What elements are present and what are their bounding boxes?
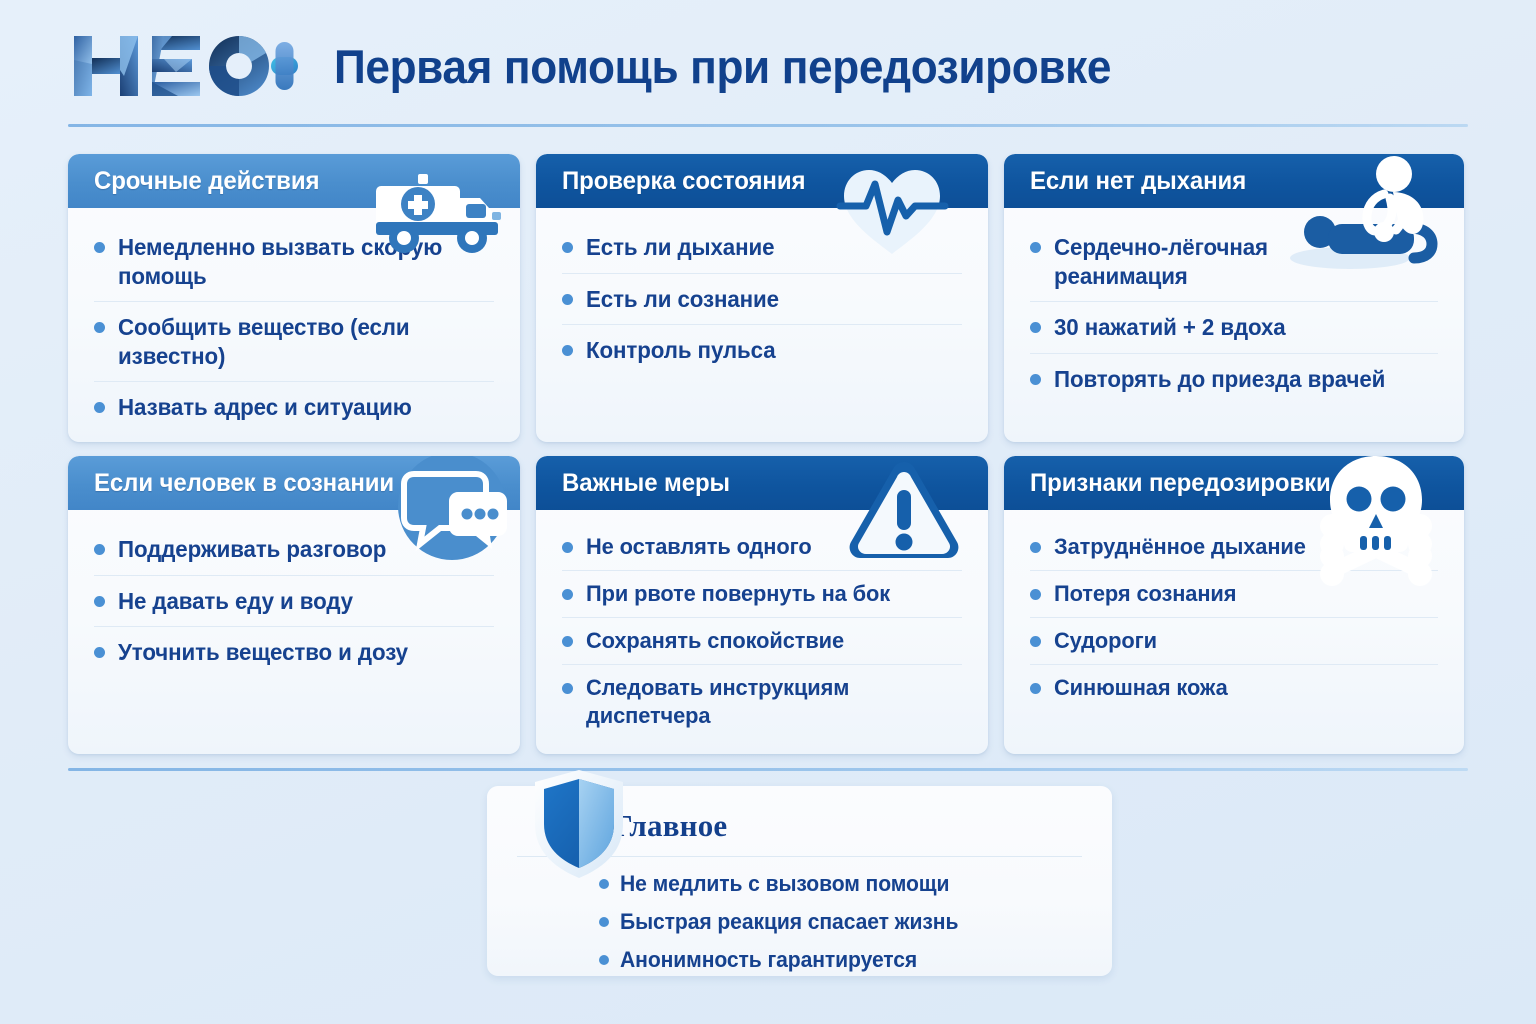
bullet-dot bbox=[1030, 322, 1041, 333]
list-item[interactable]: Есть ли сознание bbox=[562, 274, 962, 326]
bullet-dot bbox=[562, 345, 573, 356]
list-item[interactable]: Сохранять спокойствие bbox=[562, 618, 962, 665]
card-person-conscious[interactable]: Если человек в сознании Поддерживать раз… bbox=[68, 456, 520, 754]
bullet-dot bbox=[562, 542, 573, 553]
page-header: Первая помощь при передозировке bbox=[68, 26, 1468, 106]
list-item-label: Быстрая реакция спасает жизнь bbox=[620, 909, 958, 935]
card-title: Важные меры bbox=[562, 469, 730, 498]
list-item-label: Анонимность гарантируется bbox=[620, 947, 917, 973]
footer-divider bbox=[68, 768, 1468, 771]
header-divider bbox=[68, 124, 1468, 127]
list-item-label: Следовать инструкциям диспетчера bbox=[586, 674, 951, 730]
bullet-dot bbox=[562, 683, 573, 694]
list-item-label: Назвать адрес и ситуацию bbox=[118, 393, 412, 422]
list-item[interactable]: Сердечно-лёгочная реанимация bbox=[1030, 222, 1438, 302]
bullet-dot bbox=[1030, 636, 1041, 647]
bullet-dot bbox=[1030, 374, 1041, 385]
card-title: Проверка состояния bbox=[562, 167, 805, 196]
card-no-breathing[interactable]: Если нет дыхания Сердечно-лё bbox=[1004, 154, 1464, 442]
bullet-dot bbox=[1030, 542, 1041, 553]
list-item-label: Есть ли дыхание bbox=[586, 233, 774, 262]
list-item-label: Немедленно вызвать скорую помощь bbox=[118, 233, 483, 290]
bullet-dot bbox=[599, 879, 609, 889]
summary-panel[interactable]: Главное Не медлить с вызовом помощи Быст… bbox=[487, 786, 1112, 976]
list-item[interactable]: Следовать инструкциям диспетчера bbox=[562, 665, 962, 739]
list-item[interactable]: Анонимность гарантируется bbox=[599, 941, 1082, 979]
list-item-label: Не давать еду и воду bbox=[118, 587, 353, 616]
card-urgent-actions[interactable]: Срочные действия Немедленно вызвать скор… bbox=[68, 154, 520, 442]
bullet-dot bbox=[599, 955, 609, 965]
list-item[interactable]: Контроль пульса bbox=[562, 325, 962, 376]
shield-icon bbox=[531, 768, 627, 880]
neo-plus-logo bbox=[68, 30, 300, 102]
bullet-dot bbox=[94, 402, 105, 413]
list-item-label: Не оставлять одного bbox=[586, 533, 812, 561]
list-item-label: Судороги bbox=[1054, 627, 1157, 655]
list-item[interactable]: Быстрая реакция спасает жизнь bbox=[599, 903, 1082, 941]
list-item-label: Уточнить вещество и дозу bbox=[118, 638, 408, 667]
card-items: Не оставлять одного При рвоте повернуть … bbox=[536, 510, 988, 754]
card-header: Если нет дыхания bbox=[1004, 154, 1464, 208]
card-title: Если нет дыхания bbox=[1030, 167, 1246, 196]
bullet-dot bbox=[1030, 589, 1041, 600]
card-header: Важные меры bbox=[536, 456, 988, 510]
list-item[interactable]: Есть ли дыхание bbox=[562, 222, 962, 274]
list-item[interactable]: Поддерживать разговор bbox=[94, 524, 494, 576]
list-item[interactable]: Немедленно вызвать скорую помощь bbox=[94, 222, 494, 302]
list-item[interactable]: Не оставлять одного bbox=[562, 524, 962, 571]
bullet-dot bbox=[599, 917, 609, 927]
list-item-label: Поддерживать разговор bbox=[118, 535, 386, 564]
bullet-dot bbox=[562, 242, 573, 253]
bullet-dot bbox=[1030, 242, 1041, 253]
card-header: Проверка состояния bbox=[536, 154, 988, 208]
card-header: Признаки передозировки bbox=[1004, 456, 1464, 510]
page-title: Первая помощь при передозировке bbox=[334, 39, 1111, 94]
card-important-measures[interactable]: Важные меры Не оставлять одного При рвот… bbox=[536, 456, 988, 754]
card-title: Признаки передозировки bbox=[1030, 469, 1331, 498]
bullet-dot bbox=[94, 242, 105, 253]
list-item[interactable]: Не медлить с вызовом помощи bbox=[599, 865, 1082, 903]
list-item-label: Сохранять спокойствие bbox=[586, 627, 844, 655]
card-items: Затруднённое дыхание Потеря сознания Суд… bbox=[1004, 510, 1464, 754]
card-title: Если человек в сознании bbox=[94, 469, 394, 498]
list-item-label: Сердечно-лёгочная реанимация bbox=[1054, 233, 1297, 290]
list-item-label: Сообщить вещество (если известно) bbox=[118, 313, 483, 370]
card-items: Сердечно-лёгочная реанимация 30 нажатий … bbox=[1004, 208, 1464, 442]
list-item-label: Затруднённое дыхание bbox=[1054, 533, 1306, 561]
card-items: Поддерживать разговор Не давать еду и во… bbox=[68, 510, 520, 754]
list-item-label: Контроль пульса bbox=[586, 336, 776, 365]
list-item[interactable]: При рвоте повернуть на бок bbox=[562, 571, 962, 618]
cards-grid: Срочные действия Немедленно вызвать скор… bbox=[68, 154, 1468, 754]
bullet-dot bbox=[1030, 683, 1041, 694]
list-item[interactable]: Уточнить вещество и дозу bbox=[94, 627, 494, 678]
bullet-dot bbox=[94, 647, 105, 658]
card-title: Срочные действия bbox=[94, 167, 319, 196]
bullet-dot bbox=[94, 322, 105, 333]
list-item-label: Не медлить с вызовом помощи bbox=[620, 871, 949, 897]
list-item-label: Потеря сознания bbox=[1054, 580, 1236, 608]
bullet-dot bbox=[562, 294, 573, 305]
infographic-page: Первая помощь при передозировке Срочные … bbox=[0, 0, 1536, 1024]
card-header: Срочные действия bbox=[68, 154, 520, 208]
bullet-dot bbox=[562, 589, 573, 600]
list-item[interactable]: Не давать еду и воду bbox=[94, 576, 494, 628]
list-item-label: Повторять до приезда врачей bbox=[1054, 365, 1385, 394]
bullet-dot bbox=[94, 596, 105, 607]
bullet-dot bbox=[94, 544, 105, 555]
card-overdose-signs[interactable]: Признаки передозировки bbox=[1004, 456, 1464, 754]
list-item[interactable]: Затруднённое дыхание bbox=[1030, 524, 1438, 571]
card-header: Если человек в сознании bbox=[68, 456, 520, 510]
list-item-label: Синюшная кожа bbox=[1054, 674, 1228, 702]
list-item[interactable]: Назвать адрес и ситуацию bbox=[94, 382, 494, 433]
card-state-check[interactable]: Проверка состояния Есть ли дыхание Есть … bbox=[536, 154, 988, 442]
list-item-label: Есть ли сознание bbox=[586, 285, 779, 314]
list-item[interactable]: Судороги bbox=[1030, 618, 1438, 665]
card-items: Немедленно вызвать скорую помощь Сообщит… bbox=[68, 208, 520, 442]
list-item[interactable]: Сообщить вещество (если известно) bbox=[94, 302, 494, 382]
summary-items: Не медлить с вызовом помощи Быстрая реак… bbox=[517, 865, 1082, 979]
bullet-dot bbox=[562, 636, 573, 647]
list-item[interactable]: 30 нажатий + 2 вдоха bbox=[1030, 302, 1438, 354]
list-item-label: 30 нажатий + 2 вдоха bbox=[1054, 313, 1286, 342]
list-item[interactable]: Потеря сознания bbox=[1030, 571, 1438, 618]
card-items: Есть ли дыхание Есть ли сознание Контрол… bbox=[536, 208, 988, 442]
summary-title: Главное bbox=[613, 808, 727, 844]
list-item-label: При рвоте повернуть на бок bbox=[586, 580, 890, 608]
list-item[interactable]: Синюшная кожа bbox=[1030, 665, 1438, 711]
list-item[interactable]: Повторять до приезда врачей bbox=[1030, 354, 1438, 405]
